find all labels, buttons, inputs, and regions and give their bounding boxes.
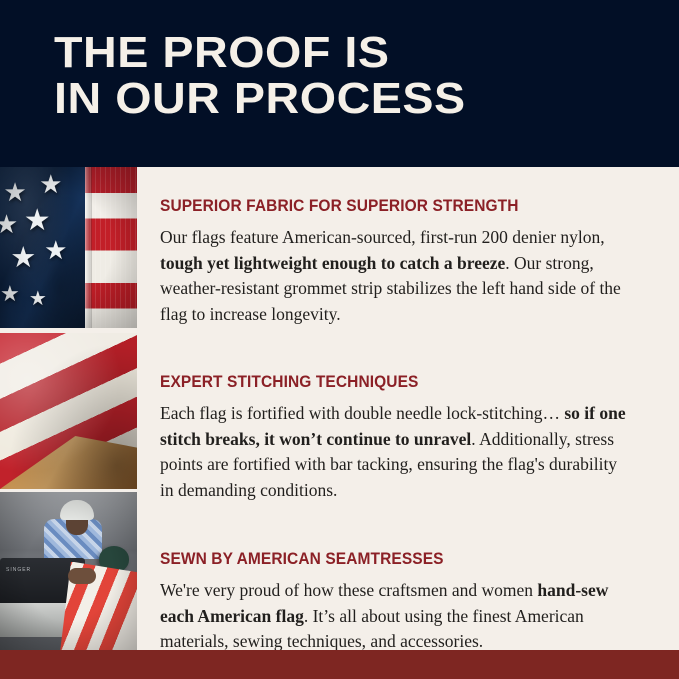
photo-seamstress-sewing-flag: SINGER [0, 492, 137, 650]
photo-vignette [0, 167, 137, 328]
section-body-text-1: We're very proud of how these craftsmen … [160, 580, 537, 600]
section-expert-stitching: EXPERT STITCHING TECHNIQUES Each flag is… [160, 353, 630, 503]
section-body: Each flag is fortified with double needl… [160, 401, 630, 503]
infographic-root: THE PROOF IS IN OUR PROCESS ★ ★ ★ ★ ★ ★ … [0, 0, 679, 679]
section-heading: SUPERIOR FABRIC FOR SUPERIOR STRENGTH [160, 197, 602, 216]
header-banner: THE PROOF IS IN OUR PROCESS [0, 0, 679, 167]
section-body: We're very proud of how these craftsmen … [160, 578, 630, 655]
section-sewn-by-american-seamtresses: SEWN BY AMERICAN SEAMTRESSES We're very … [160, 529, 630, 655]
bottom-accent-bar [0, 650, 679, 679]
photo-flag-stars-stripes-closeup: ★ ★ ★ ★ ★ ★ ★ ★ [0, 167, 137, 328]
section-superior-fabric: SUPERIOR FABRIC FOR SUPERIOR STRENGTH Ou… [160, 167, 630, 327]
section-body-text-1: Our flags feature American-sourced, firs… [160, 227, 605, 247]
photo-folded-flag-on-wood [0, 333, 137, 489]
photo-column: ★ ★ ★ ★ ★ ★ ★ ★ [0, 167, 137, 650]
section-heading: SEWN BY AMERICAN SEAMTRESSES [160, 550, 602, 569]
section-body-text-1: Each flag is fortified with double needl… [160, 403, 564, 423]
photo-shading [0, 333, 137, 489]
section-body-emphasis: tough yet lightweight enough to catch a … [160, 253, 505, 273]
main-content: ★ ★ ★ ★ ★ ★ ★ ★ [0, 167, 679, 650]
section-body: Our flags feature American-sourced, firs… [160, 225, 630, 327]
page-title: THE PROOF IS IN OUR PROCESS [54, 30, 679, 122]
text-column: SUPERIOR FABRIC FOR SUPERIOR STRENGTH Ou… [160, 167, 630, 655]
section-heading: EXPERT STITCHING TECHNIQUES [160, 373, 602, 392]
photo-vignette [0, 492, 137, 650]
